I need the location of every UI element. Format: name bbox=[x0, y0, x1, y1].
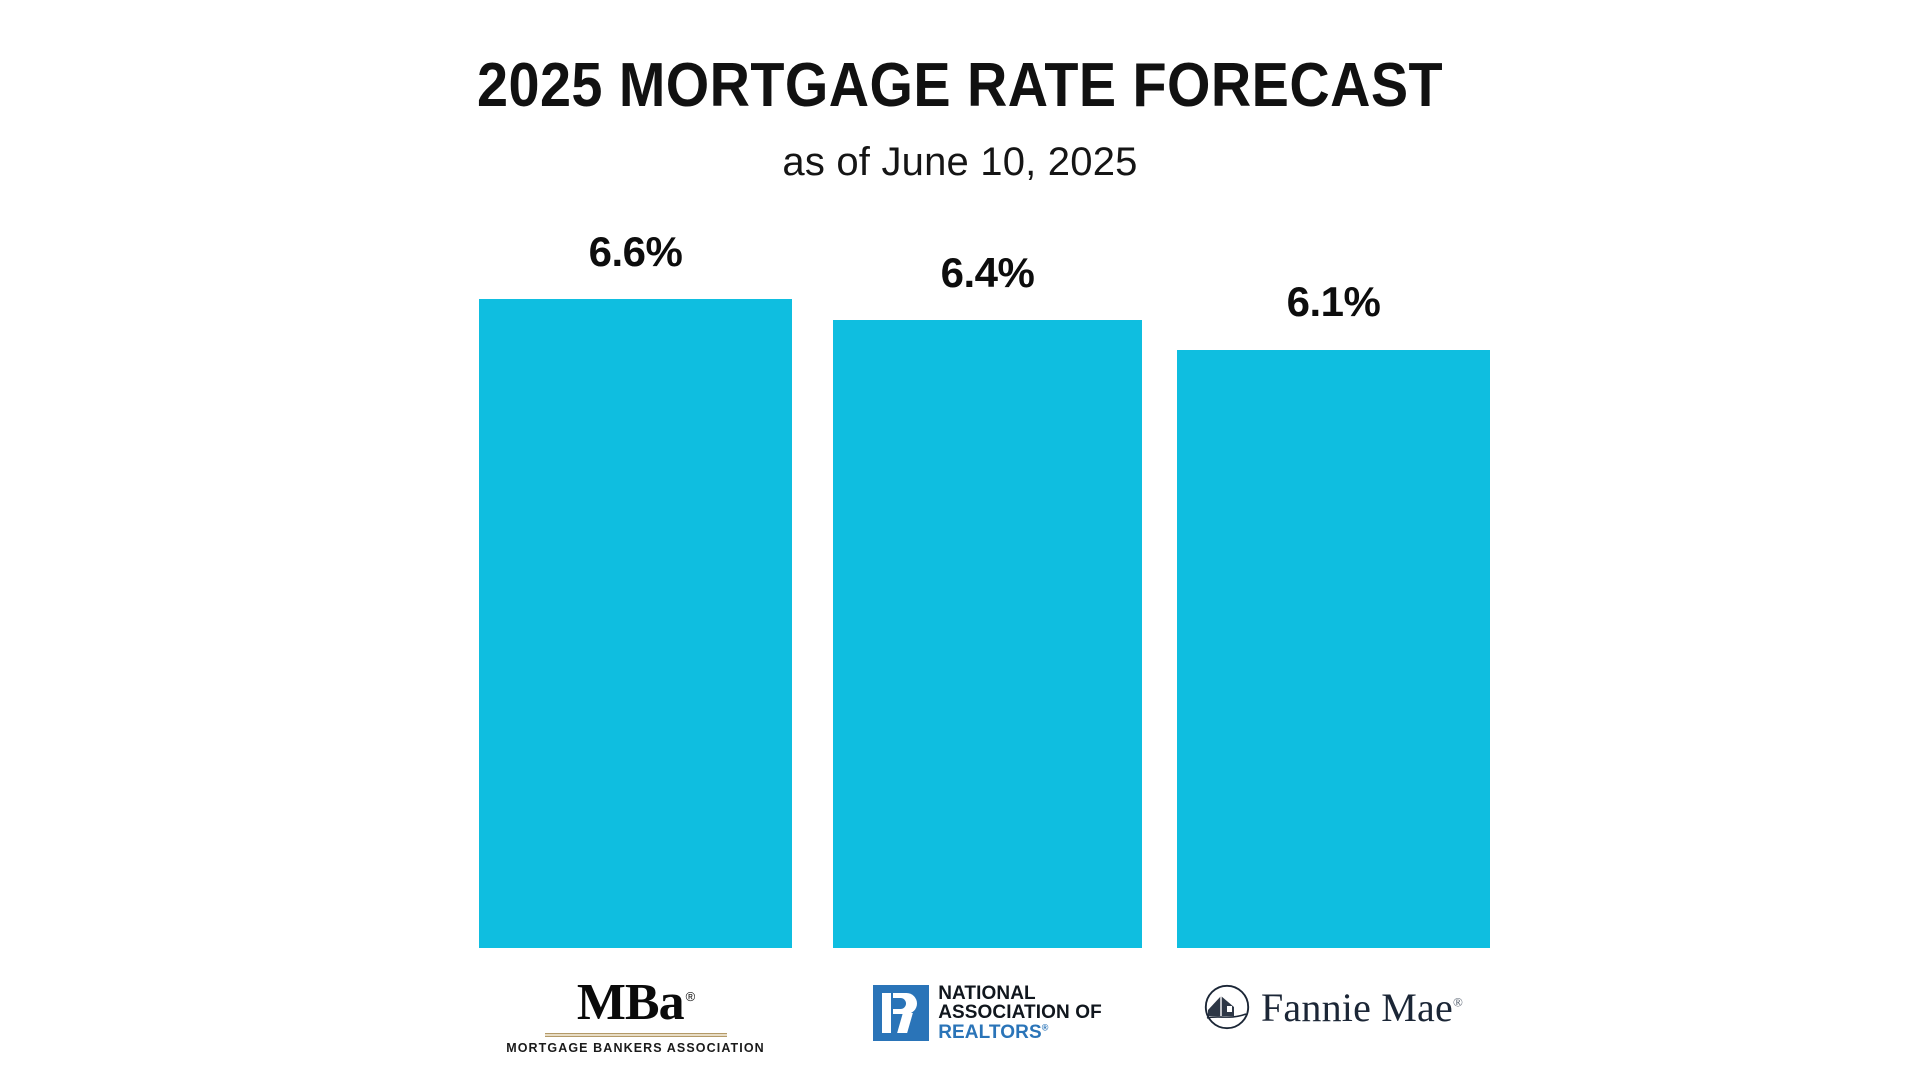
bar-mba bbox=[479, 299, 792, 948]
bar-value-label-3: 6.1% bbox=[1177, 278, 1490, 326]
bar-chart: 6.6% 6.4% 6.1% bbox=[0, 0, 1920, 1080]
nar-realtors-text: REALTORS bbox=[938, 1022, 1042, 1043]
fannie-mae-house-icon bbox=[1204, 984, 1250, 1030]
mba-divider bbox=[545, 1033, 727, 1037]
nar-line-1: NATIONAL bbox=[938, 984, 1102, 1003]
nar-line-3: REALTORS® bbox=[938, 1023, 1102, 1042]
mba-wordmark: MBa ® bbox=[577, 972, 694, 1028]
bar-value-label-1: 6.6% bbox=[479, 228, 792, 276]
registered-icon: ® bbox=[1453, 994, 1463, 1009]
registered-icon: ® bbox=[1042, 1022, 1049, 1032]
bar-nar bbox=[833, 320, 1142, 948]
logo-mba: MBa ® MORTGAGE BANKERS ASSOCIATION bbox=[479, 968, 792, 1058]
logo-nar: NATIONAL ASSOCIATION OF REALTORS® bbox=[833, 968, 1142, 1058]
bar-fannie-mae bbox=[1177, 350, 1490, 948]
logo-fannie-mae: Fannie Mae® bbox=[1177, 962, 1490, 1052]
fannie-mae-wordmark-text: Fannie Mae bbox=[1261, 985, 1453, 1030]
fannie-mae-wordmark: Fannie Mae® bbox=[1261, 984, 1463, 1031]
mba-wordmark-text: MBa bbox=[577, 978, 684, 1028]
bar-value-label-2: 6.4% bbox=[833, 249, 1142, 297]
realtor-r-icon bbox=[873, 985, 929, 1041]
registered-icon: ® bbox=[686, 972, 695, 1022]
forecast-infographic: 2025 MORTGAGE RATE FORECAST as of June 1… bbox=[0, 0, 1920, 1080]
nar-line-2: ASSOCIATION OF bbox=[938, 1003, 1102, 1022]
mba-subtitle: MORTGAGE BANKERS ASSOCIATION bbox=[506, 1041, 765, 1055]
